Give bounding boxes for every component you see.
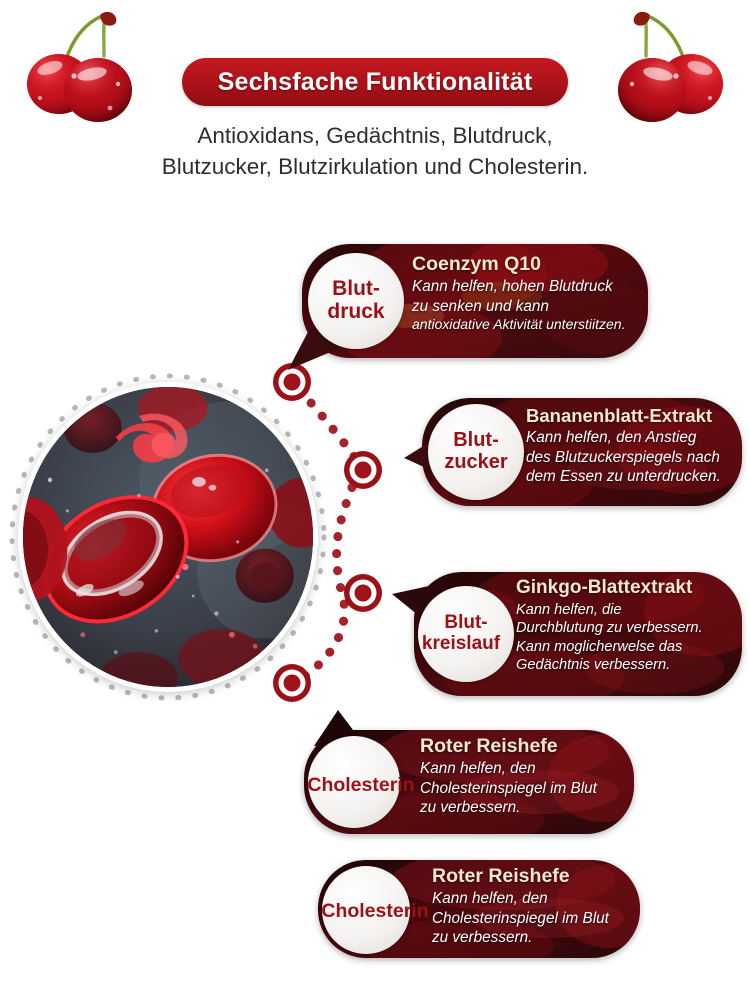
bullseye-marker-2 <box>344 451 382 489</box>
badge-line-1: Blut- <box>444 430 507 452</box>
infographic-page: Sechsfache Funktionalität Antioxidans, G… <box>0 0 750 1000</box>
callout-card-coenzym-q10[interactable]: Blut- druck Coenzym Q10 Kann helfen, hoh… <box>302 244 648 358</box>
callout-card-bananenblatt-extrakt[interactable]: Blut- zucker Bananenblatt-Extrakt Kann h… <box>422 398 742 506</box>
card-body-3: Ginkgo-Blattextrakt Kann helfen, die Dur… <box>516 578 738 675</box>
badge-line-1: Blut- <box>327 278 384 301</box>
card-desc-1: Kann helfen, hohen Blutdruck zu senken u… <box>412 277 642 334</box>
page-title: Sechsfache Funktionalität <box>218 68 533 97</box>
card-heading-1: Coenzym Q10 <box>412 254 642 275</box>
badge-line-2: kreislauf <box>422 634 500 655</box>
badge-line-2: zucker <box>444 452 507 474</box>
callout-card-ginkgo-blattextrakt[interactable]: Blut- kreislauf Ginkgo-Blattextrakt Kann… <box>414 572 742 696</box>
badge-line-2: druck <box>327 301 384 324</box>
card-desc-line: dem Essen zu unterdrucken. <box>526 467 740 486</box>
card-badge-2: Blut- zucker <box>428 404 524 500</box>
cherries-icon-right <box>594 6 744 126</box>
badge-line-1: Blut- <box>432 613 500 634</box>
card-desc-line: zu verbessern. <box>432 928 638 947</box>
card-desc-line: Gedächtnis verbessern. <box>516 656 738 675</box>
bullseye-marker-3 <box>344 574 382 612</box>
callout-card-roter-reishefe-2[interactable]: Cholesterin Roter Reishefe Kann helfen, … <box>318 860 640 958</box>
card-desc-5: Kann helfen, den Cholesterinspiegel im B… <box>432 889 638 947</box>
card-body-5: Roter Reishefe Kann helfen, den Choleste… <box>432 866 638 948</box>
dotted-connector-path <box>0 340 430 740</box>
card-desc-line: Kann moglicherwelse das <box>516 638 738 657</box>
bullseye-marker-4 <box>273 664 311 702</box>
card-badge-3: Blut- kreislauf <box>418 586 514 682</box>
card-badge-label-4: Cholesterin <box>298 774 424 797</box>
card-desc-4: Kann helfen, den Cholesterinspiegel im B… <box>420 759 632 817</box>
card-desc-2: Kann helfen, den Anstieg des Blutzuckers… <box>526 428 740 486</box>
card-badge-1: Blut- druck <box>308 253 404 349</box>
card-desc-line: zu verbessern. <box>420 798 632 817</box>
card-desc-line: Kann helfen, den Anstieg <box>526 428 740 447</box>
card-body-4: Roter Reishefe Kann helfen, den Choleste… <box>420 736 632 818</box>
card-desc-line: des Blutzuckerspiegels nach <box>526 448 740 467</box>
card-badge-label-5: Cholesterin <box>312 900 438 923</box>
card-heading-3: Ginkgo-Blattextrakt <box>516 578 738 599</box>
subtitle-line-2: Blutzucker, Blutzirkulation und Choleste… <box>60 151 690 182</box>
card-desc-line: Cholesterinspiegel im Blut <box>420 779 632 798</box>
card-body-2: Bananenblatt-Extrakt Kann helfen, den An… <box>526 406 740 487</box>
card-desc-line: Kann helfen, hohen Blutdruck <box>412 277 642 296</box>
card-desc-line: Kann helfen, den <box>432 889 638 908</box>
card-body-1: Coenzym Q10 Kann helfen, hohen Blutdruck… <box>412 254 642 334</box>
card-desc-3: Kann helfen, die Durchblutung zu verbess… <box>516 601 738 675</box>
cherries-icon-left <box>6 6 156 126</box>
title-pill: Sechsfache Funktionalität <box>182 58 568 106</box>
card-desc-line: Cholesterinspiegel im Blut <box>432 909 638 928</box>
card-heading-5: Roter Reishefe <box>432 866 638 887</box>
card-desc-line: Durchblutung zu verbessern. <box>516 619 738 638</box>
subtitle: Antioxidans, Gedächtnis, Blutdruck, Blut… <box>60 120 690 182</box>
card-desc-line: Kann helfen, den <box>420 759 632 778</box>
card-desc-line: zu senken und kann <box>412 297 642 316</box>
card-desc-line: antioxidative Aktivität unterstiitzen. <box>412 316 642 334</box>
subtitle-line-1: Antioxidans, Gedächtnis, Blutdruck, <box>60 120 690 151</box>
card-desc-line: Kann helfen, die <box>516 601 738 620</box>
card-heading-4: Roter Reishefe <box>420 736 632 757</box>
card-heading-2: Bananenblatt-Extrakt <box>526 406 740 426</box>
callout-card-roter-reishefe-1[interactable]: Cholesterin Roter Reishefe Kann helfen, … <box>304 730 634 834</box>
